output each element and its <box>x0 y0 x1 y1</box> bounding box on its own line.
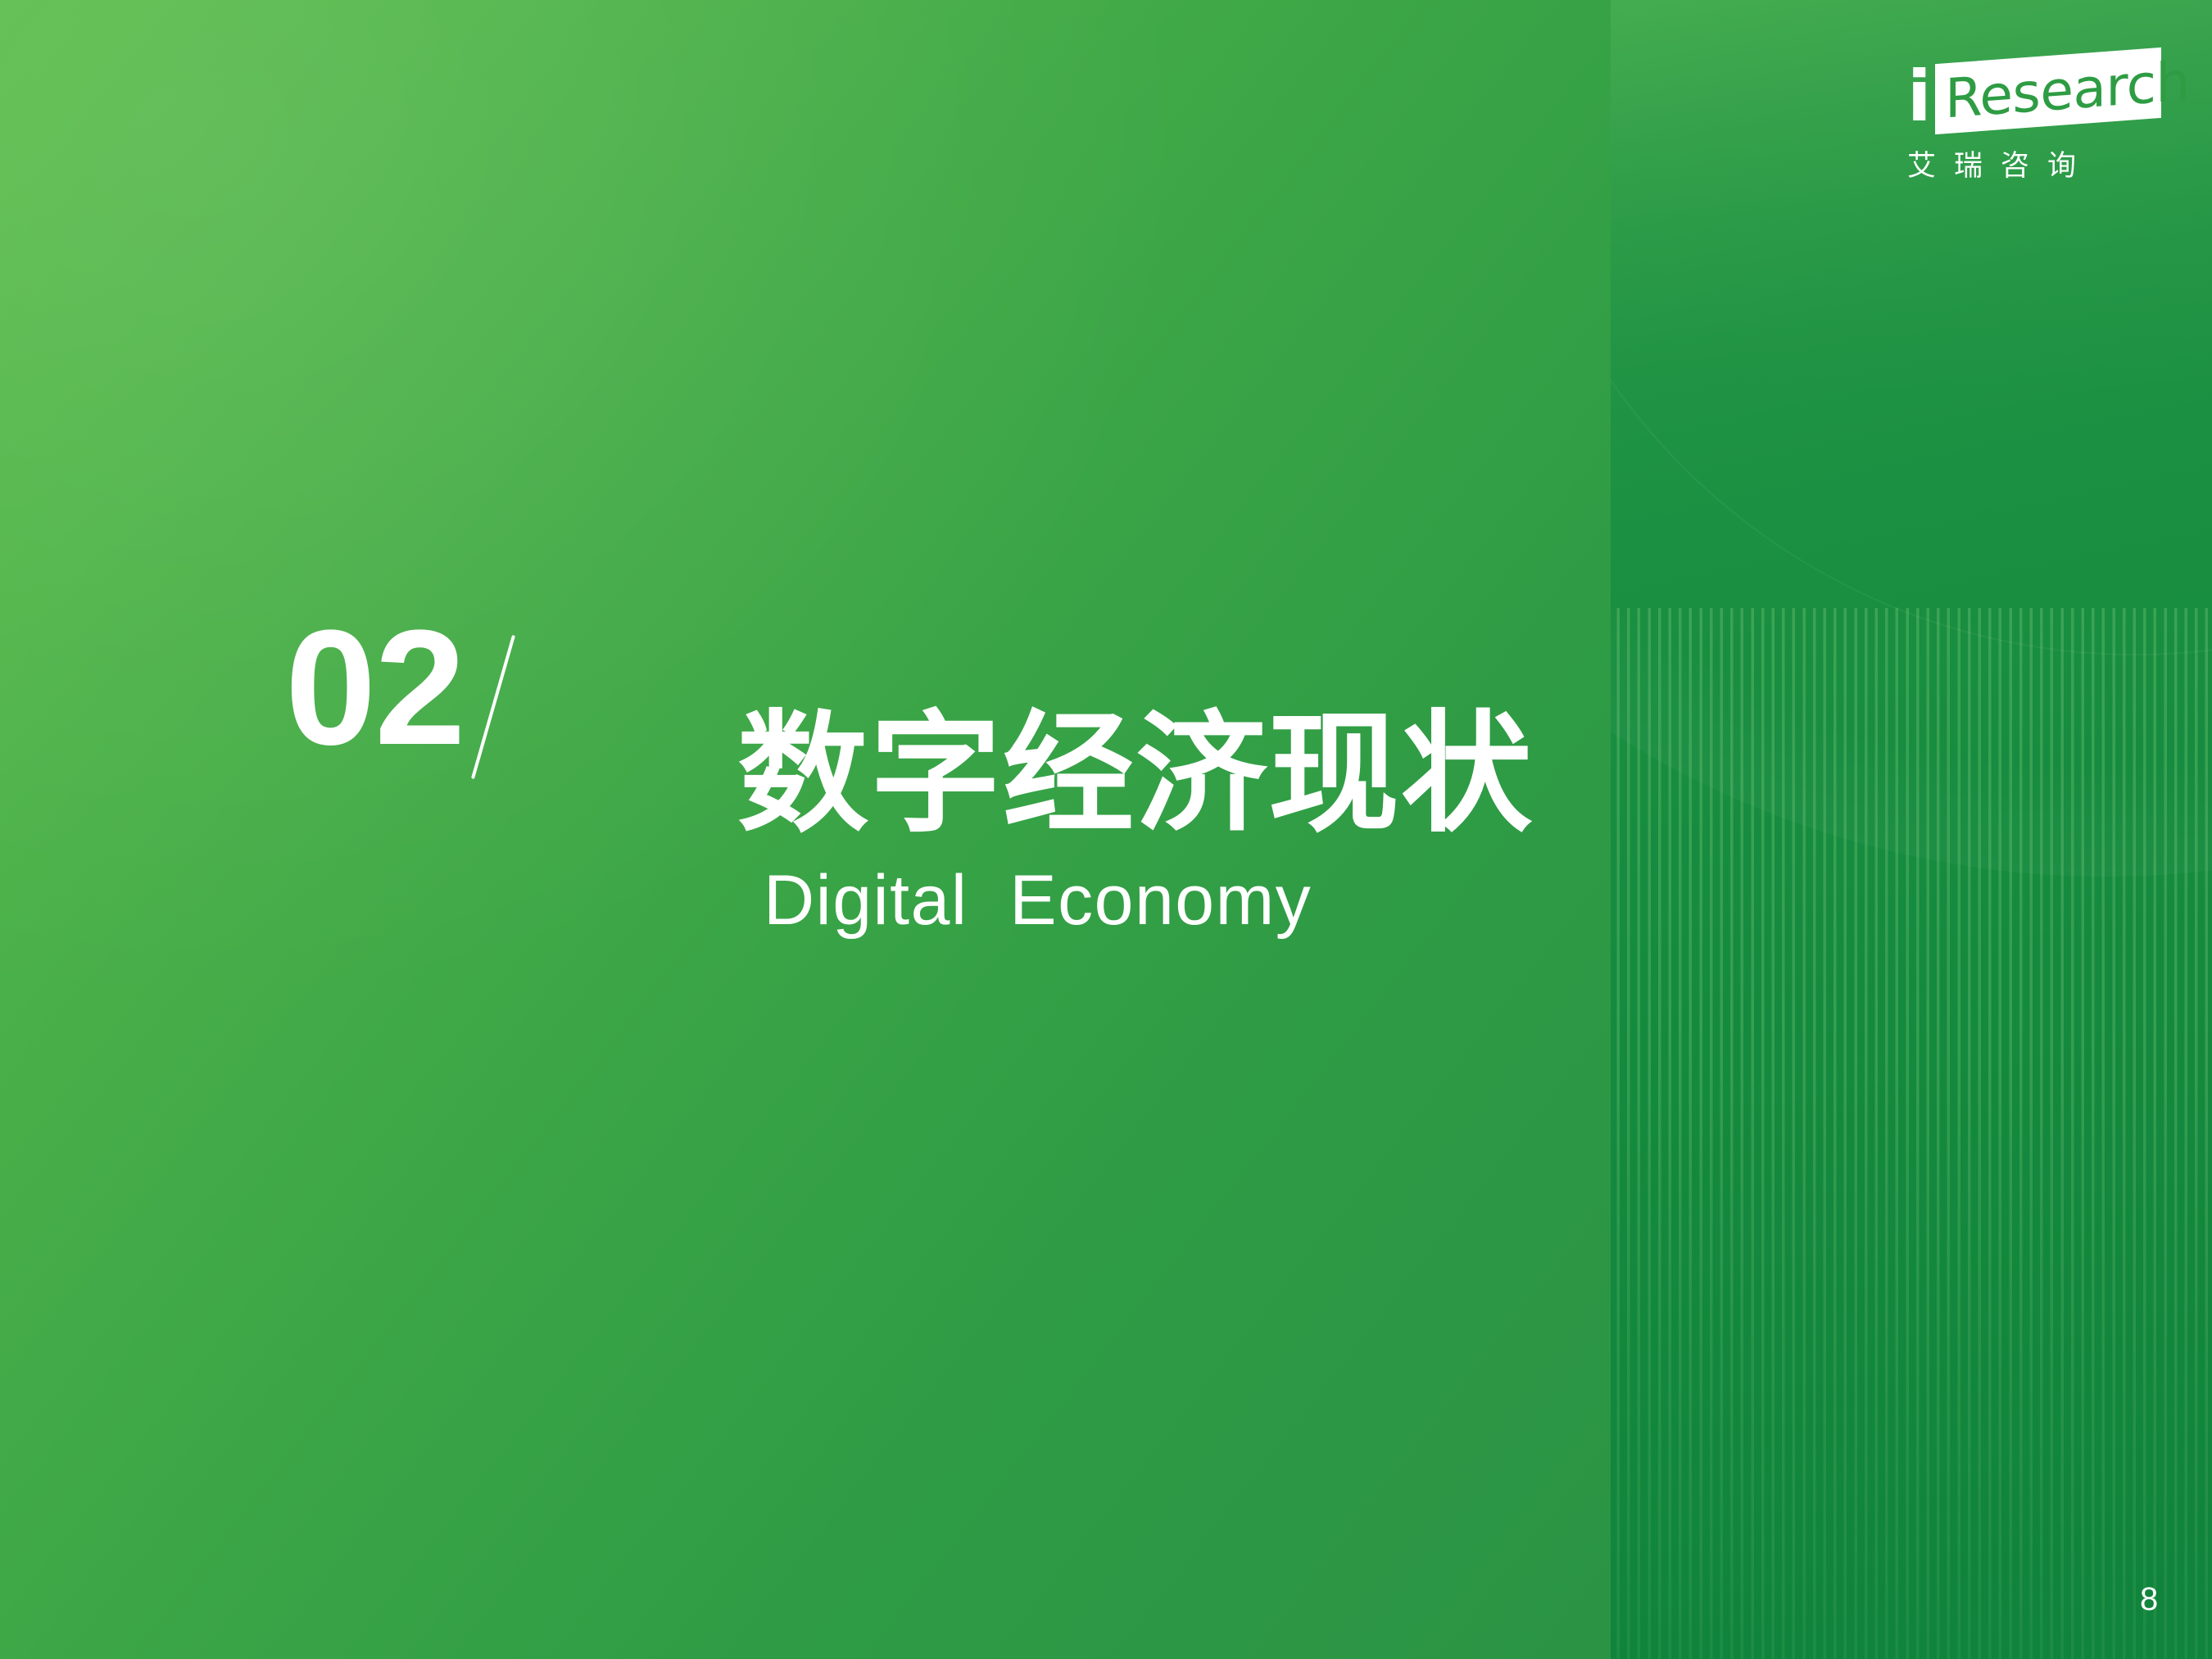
section-title-english: Digital Economy <box>764 865 1312 936</box>
logo-i-mark: i <box>1907 61 1931 132</box>
vertical-pinstripe-band <box>1611 608 2212 1659</box>
section-number: 02 <box>285 606 464 770</box>
page-number: 8 <box>2140 1583 2158 1616</box>
section-title-chinese: 数字经济现状 <box>737 700 1534 847</box>
slide-canvas: i Research 艾瑞咨询 02 数字经济现状 Digital Econom… <box>0 0 2212 1659</box>
logo-chinese-name: 艾瑞咨询 <box>1907 143 2094 184</box>
right-decorative-panel <box>1611 0 2212 1659</box>
logo-wordmark: Research <box>1945 57 2158 126</box>
iresearch-logo: i Research 艾瑞咨询 <box>1892 51 2171 182</box>
